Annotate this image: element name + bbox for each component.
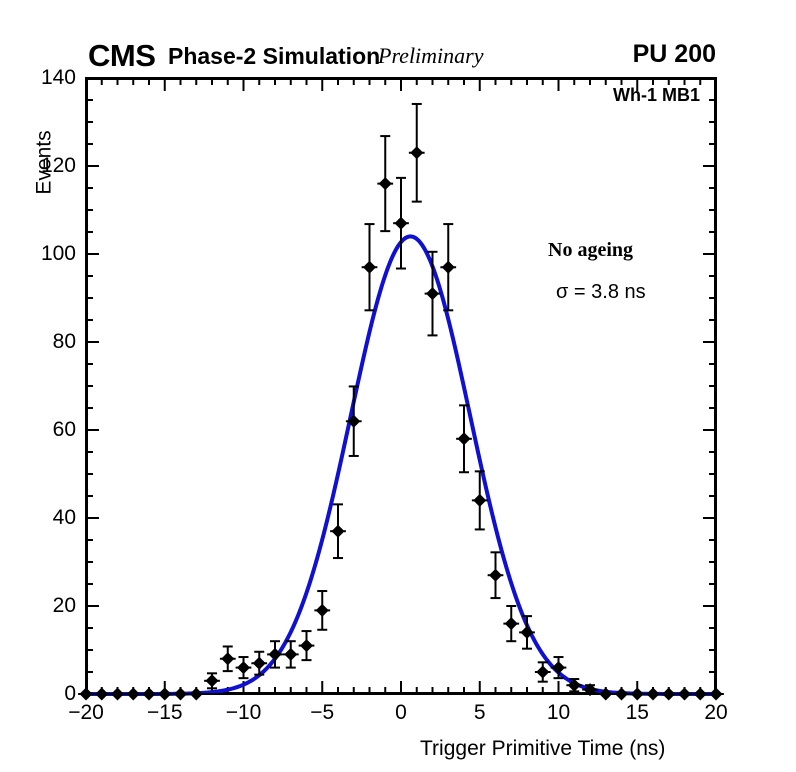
ageing-annotation: No ageing <box>548 240 633 260</box>
x-tick-label: 15 <box>615 702 659 723</box>
y-tick-label: 0 <box>20 683 76 704</box>
x-tick-label: 5 <box>458 702 502 723</box>
chamber-label: Wh-1 MB1 <box>613 86 700 104</box>
y-tick-label: 60 <box>20 419 76 440</box>
pileup-label: PU 200 <box>633 42 716 67</box>
x-tick-label: 10 <box>537 702 581 723</box>
plot-root: { "header": { "cms": "CMS", "phase": "Ph… <box>0 0 796 772</box>
x-axis-title: Trigger Primitive Time (ns) <box>420 738 665 759</box>
y-tick-label: 80 <box>20 331 76 352</box>
plot-header: CMS Phase-2 Simulation Preliminary PU 20… <box>0 0 796 78</box>
y-tick-label: 20 <box>20 595 76 616</box>
x-tick-label: −10 <box>222 702 266 723</box>
cms-logo-label: CMS <box>88 40 155 71</box>
x-tick-label: −20 <box>64 702 108 723</box>
x-tick-label: −15 <box>143 702 187 723</box>
simulation-label: Phase-2 Simulation <box>168 45 380 68</box>
x-tick-label: −5 <box>300 702 344 723</box>
y-tick-label: 100 <box>20 243 76 264</box>
plot-frame <box>86 78 716 694</box>
preliminary-label: Preliminary <box>378 45 484 67</box>
y-tick-label: 40 <box>20 507 76 528</box>
sigma-annotation: σ = 3.8 ns <box>556 282 646 302</box>
y-tick-label: 120 <box>20 155 76 176</box>
y-tick-label: 140 <box>20 67 76 88</box>
x-tick-label: 20 <box>694 702 738 723</box>
x-tick-label: 0 <box>379 702 423 723</box>
